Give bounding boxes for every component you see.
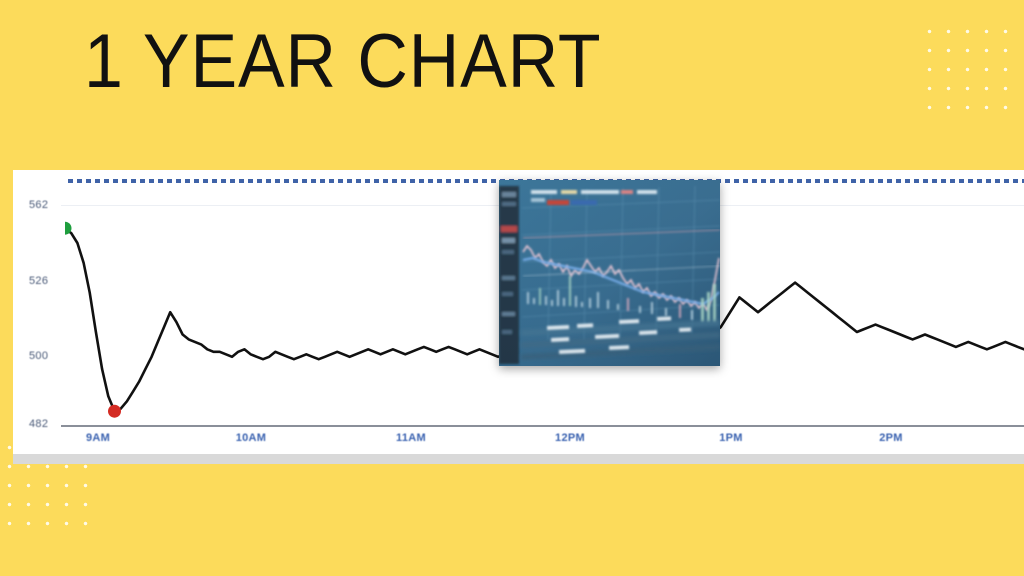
x-axis-label: 11AM — [396, 432, 426, 444]
low-marker — [108, 405, 121, 418]
card-footer-bar — [13, 454, 1024, 464]
x-axis-label: 12PM — [555, 432, 585, 444]
y-axis-label: 562 — [29, 199, 48, 211]
dot-grid-top-right — [920, 22, 1016, 118]
y-axis-label: 500 — [29, 350, 48, 362]
trading-terminal-photo — [499, 180, 720, 366]
x-axis-label: 9AM — [86, 432, 110, 444]
x-axis-label: 2PM — [879, 432, 903, 444]
x-axis-line — [61, 425, 1024, 427]
x-axis-label: 1PM — [719, 432, 743, 444]
terminal-screen-image — [499, 180, 720, 366]
x-axis-label: 10AM — [236, 432, 267, 444]
y-axis-label: 482 — [29, 418, 48, 430]
page-title: 1 YEAR CHART — [84, 24, 601, 100]
y-axis-label: 526 — [29, 275, 48, 287]
